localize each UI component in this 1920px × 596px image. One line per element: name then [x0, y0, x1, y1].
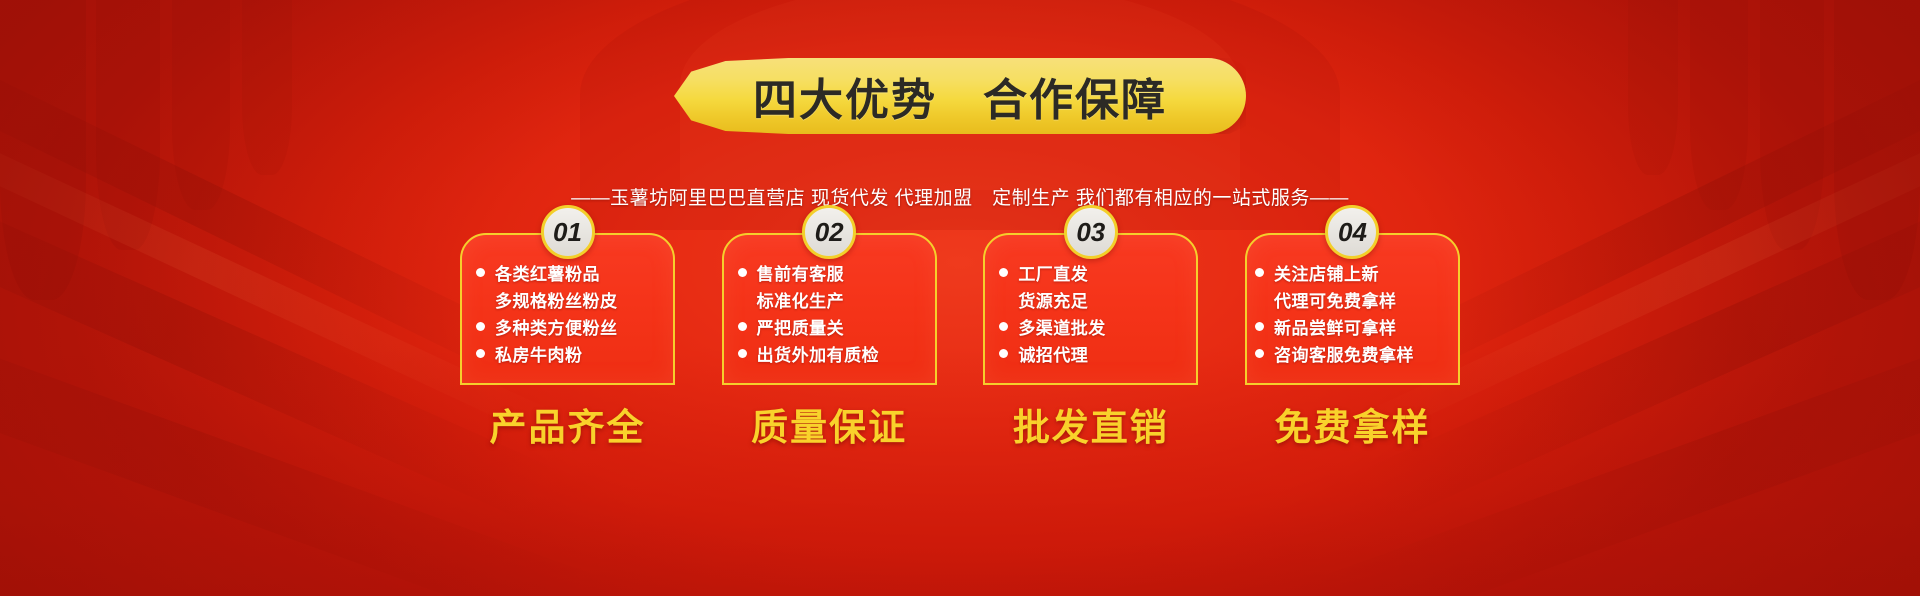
list-item: 关注店铺上新	[1255, 259, 1450, 286]
list-item: 多种类方便粉丝	[476, 313, 665, 340]
bullet-text: 私房牛肉粉	[495, 341, 583, 366]
headline-title: 四大优势 合作保障	[674, 58, 1246, 134]
advantage-card[interactable]: 04 关注店铺上新 代理可免费拿样 新品尝鲜可拿样 咨询客服免费拿样 免费拿样	[1245, 205, 1460, 495]
headline-banner: 四大优势 合作保障	[674, 58, 1246, 134]
bullet-dot-icon	[476, 295, 485, 304]
card-bullet-list: 工厂直发 货源充足 多渠道批发 诚招代理	[983, 233, 1198, 385]
bullet-text: 代理可免费拿样	[1274, 287, 1397, 312]
bullet-dot-icon	[1255, 349, 1264, 358]
bullet-dot-icon	[476, 349, 485, 358]
bullet-dot-icon	[738, 322, 747, 331]
list-item: 私房牛肉粉	[476, 340, 665, 367]
list-item: 诚招代理	[999, 340, 1188, 367]
list-item: 各类红薯粉品	[476, 259, 665, 286]
list-item: 售前有客服	[738, 259, 927, 286]
bullet-text: 标准化生产	[757, 287, 845, 312]
bullet-dot-icon	[999, 322, 1008, 331]
bullet-text: 多渠道批发	[1018, 314, 1106, 339]
card-title: 免费拿样	[1245, 397, 1460, 451]
bullet-dot-icon	[1255, 322, 1264, 331]
bullet-text: 多规格粉丝粉皮	[495, 287, 618, 312]
card-bullet-list: 各类红薯粉品 多规格粉丝粉皮 多种类方便粉丝 私房牛肉粉	[460, 233, 675, 385]
bullet-dot-icon	[476, 268, 485, 277]
bullet-dot-icon	[999, 268, 1008, 277]
bullet-text: 多种类方便粉丝	[495, 314, 618, 339]
card-title: 质量保证	[722, 397, 937, 451]
list-item: 代理可免费拿样	[1255, 286, 1450, 313]
bullet-dot-icon	[1255, 295, 1264, 304]
list-item: 多规格粉丝粉皮	[476, 286, 665, 313]
advantage-card[interactable]: 03 工厂直发 货源充足 多渠道批发 诚招代理 批发直销	[983, 205, 1198, 495]
bullet-dot-icon	[738, 268, 747, 277]
bullet-dot-icon	[999, 349, 1008, 358]
card-bullet-list: 关注店铺上新 代理可免费拿样 新品尝鲜可拿样 咨询客服免费拿样	[1245, 233, 1460, 385]
card-title: 产品齐全	[460, 397, 675, 451]
list-item: 多渠道批发	[999, 313, 1188, 340]
bullet-dot-icon	[476, 322, 485, 331]
bullet-text: 出货外加有质检	[757, 341, 880, 366]
bullet-text: 售前有客服	[757, 260, 845, 285]
bullet-dot-icon	[1255, 268, 1264, 277]
advantage-card[interactable]: 01 各类红薯粉品 多规格粉丝粉皮 多种类方便粉丝 私房牛肉粉 产品齐全	[460, 205, 675, 495]
list-item: 咨询客服免费拿样	[1255, 340, 1450, 367]
bullet-dot-icon	[738, 349, 747, 358]
list-item: 标准化生产	[738, 286, 927, 313]
bullet-text: 严把质量关	[757, 314, 845, 339]
bullet-dot-icon	[999, 295, 1008, 304]
advantage-card[interactable]: 02 售前有客服 标准化生产 严把质量关 出货外加有质检 质量保证	[722, 205, 937, 495]
bullet-dot-icon	[738, 295, 747, 304]
bullet-text: 关注店铺上新	[1274, 260, 1379, 285]
bullet-text: 新品尝鲜可拿样	[1274, 314, 1397, 339]
list-item: 货源充足	[999, 286, 1188, 313]
card-bullet-list: 售前有客服 标准化生产 严把质量关 出货外加有质检	[722, 233, 937, 385]
list-item: 严把质量关	[738, 313, 927, 340]
bullet-text: 各类红薯粉品	[495, 260, 600, 285]
list-item: 出货外加有质检	[738, 340, 927, 367]
bullet-text: 诚招代理	[1018, 341, 1088, 366]
list-item: 新品尝鲜可拿样	[1255, 313, 1450, 340]
advantages-card-list: 01 各类红薯粉品 多规格粉丝粉皮 多种类方便粉丝 私房牛肉粉 产品齐全 02 …	[460, 205, 1460, 495]
bullet-text: 货源充足	[1018, 287, 1088, 312]
card-title: 批发直销	[983, 397, 1198, 451]
list-item: 工厂直发	[999, 259, 1188, 286]
bullet-text: 咨询客服免费拿样	[1274, 341, 1414, 366]
bullet-text: 工厂直发	[1018, 260, 1088, 285]
